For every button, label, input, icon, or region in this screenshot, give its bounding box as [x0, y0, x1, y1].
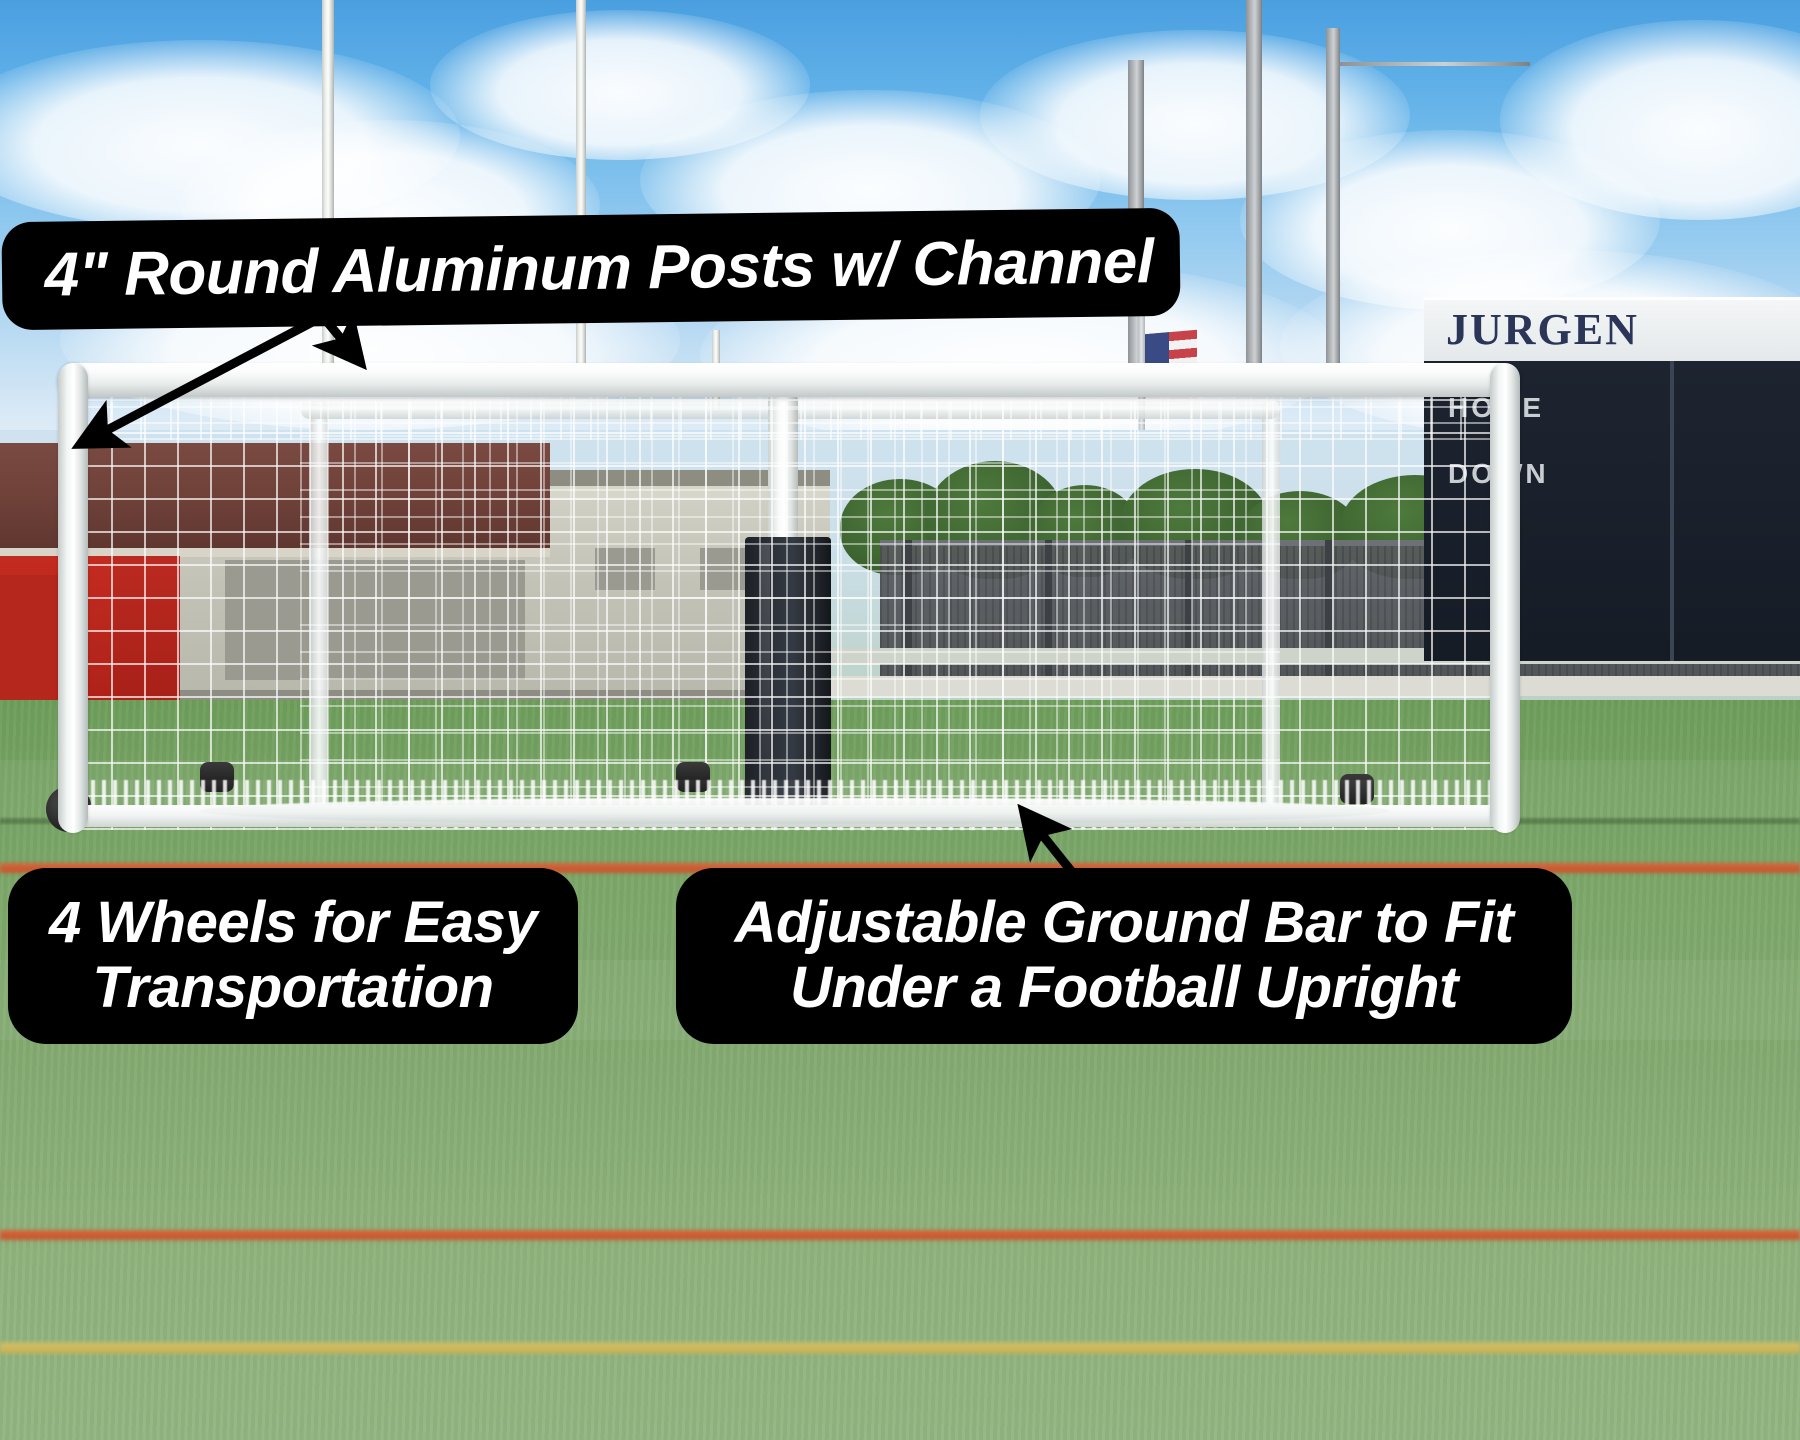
callout-line: Adjustable Ground Bar to Fit [735, 891, 1514, 956]
callout-line: Under a Football Upright [790, 956, 1458, 1021]
scoreboard-title: JURGEN [1446, 304, 1639, 355]
walkway-strip [830, 676, 1800, 696]
scoreboard-divider [1670, 361, 1674, 661]
fence-post [1045, 540, 1052, 690]
adjustable-ground-bar-sag [200, 798, 1390, 824]
callout-line: 4 Wheels for Easy [49, 891, 537, 956]
callout-ground-bar: Adjustable Ground Bar to Fit Under a Foo… [676, 868, 1572, 1044]
goal-back-post-left [310, 399, 328, 809]
upright-pole [1326, 28, 1340, 388]
screenshot-root: JURGEN HOME DOWN [0, 0, 1800, 1440]
building-red-wall [110, 556, 180, 716]
callout-line: Transportation [92, 956, 493, 1021]
goal-crossbar [58, 363, 1520, 397]
field-line-yellow [0, 1340, 1800, 1356]
callout-line: 4" Round Aluminum Posts w/ Channel [44, 227, 1154, 310]
goal-back-post-right [1262, 399, 1280, 809]
callout-wheels: 4 Wheels for Easy Transportation [8, 868, 578, 1044]
goalpost-pad-highlight [760, 545, 770, 820]
building-window [595, 548, 655, 590]
field-line-orange [0, 1228, 1800, 1242]
goal-post-left [58, 363, 88, 833]
goal-post-right [1490, 363, 1520, 833]
football-upright-post [768, 396, 798, 546]
fence-post [905, 540, 912, 690]
callout-aluminum-posts: 4" Round Aluminum Posts w/ Channel [1, 208, 1180, 330]
fence-post [1185, 540, 1192, 690]
building-door [0, 575, 63, 710]
upright-pole [1246, 0, 1262, 390]
upright-crossbar [1340, 62, 1530, 66]
fence-post [1325, 540, 1332, 690]
building-window [225, 560, 525, 680]
